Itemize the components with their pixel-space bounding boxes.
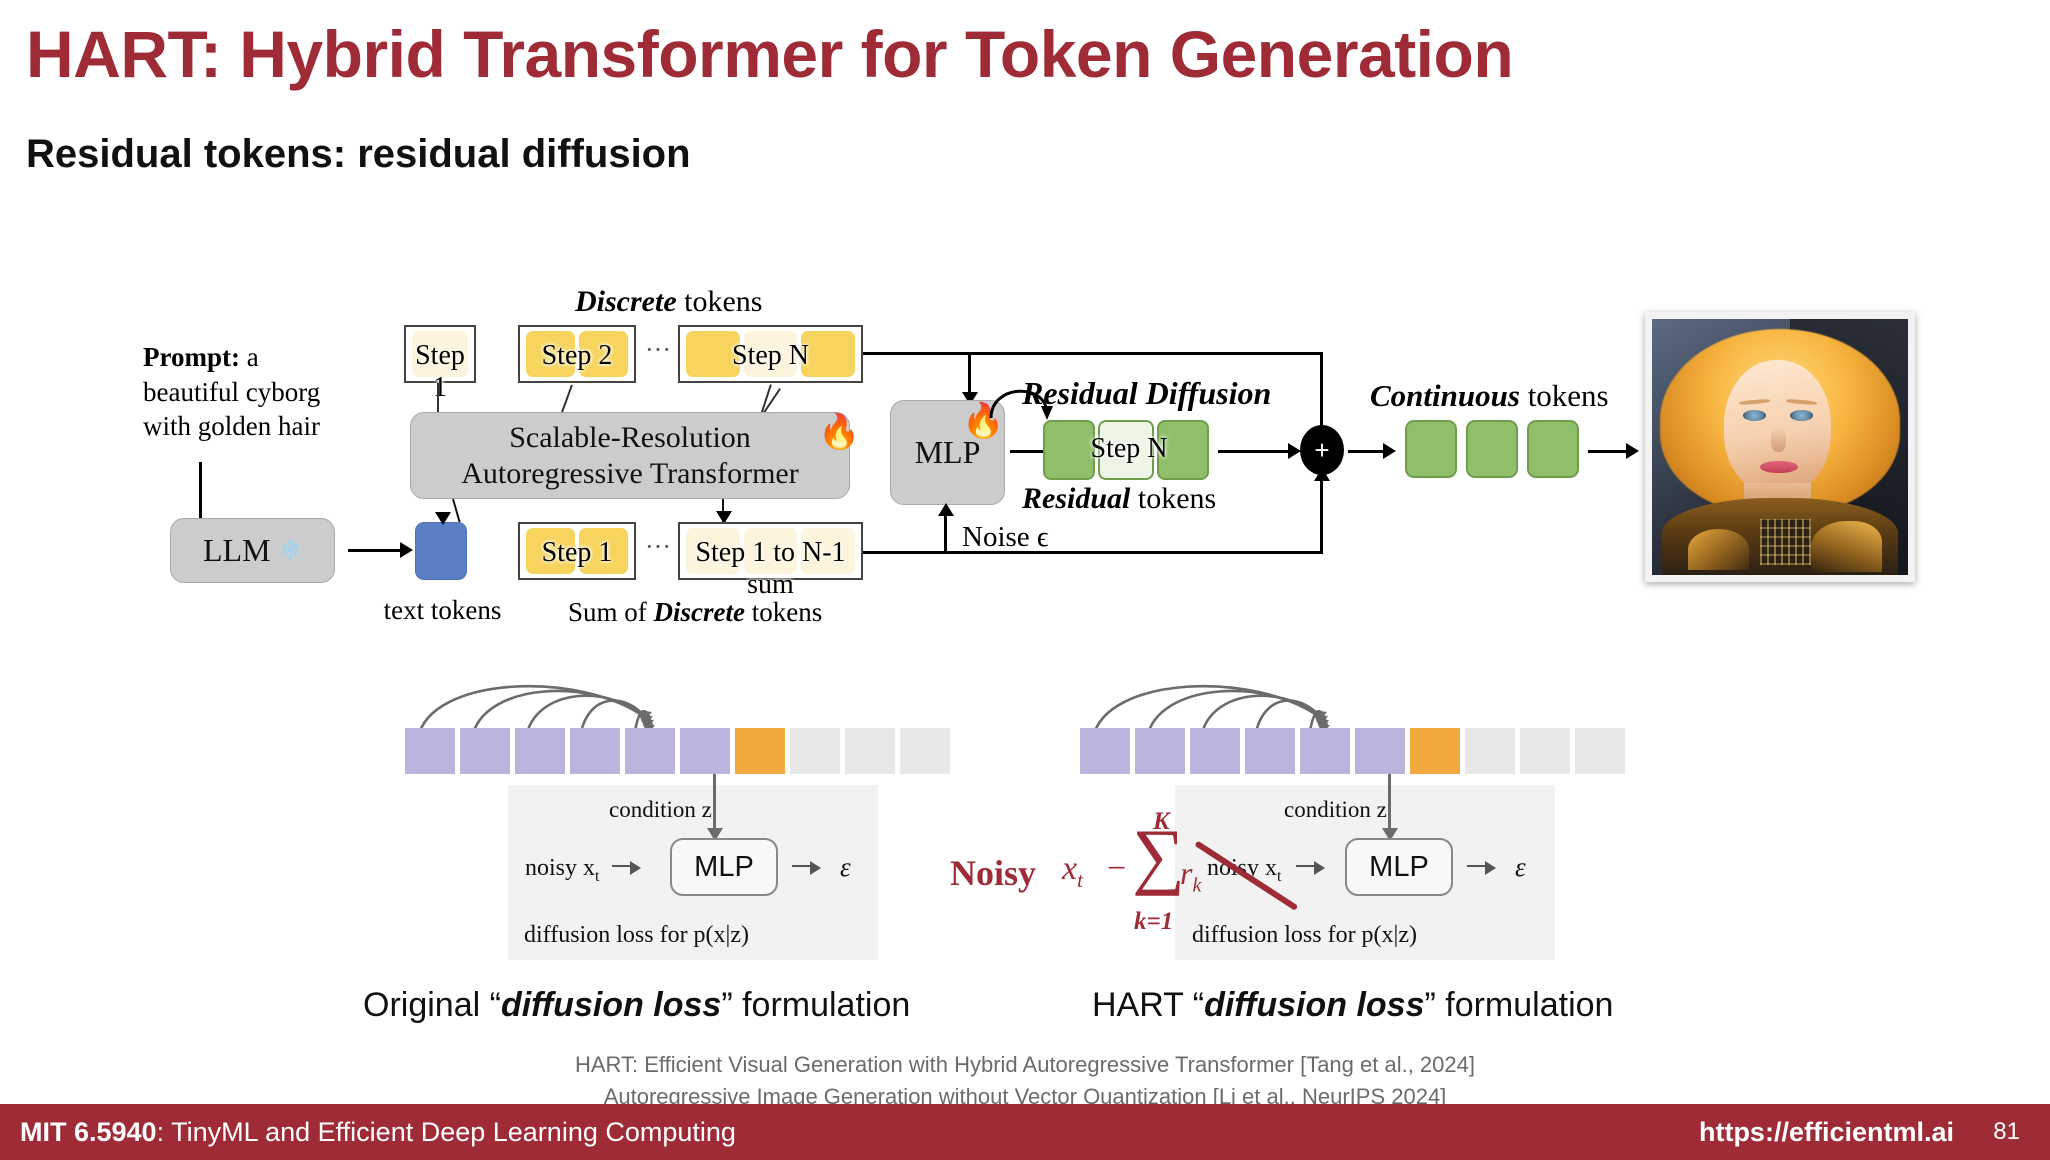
discrete-strong: Discrete [575, 285, 677, 318]
plus-to-continuous-arrowhead [1383, 443, 1396, 459]
annotation-sum-symbol: ∑ [1132, 828, 1185, 886]
output-line-hart [1467, 865, 1487, 867]
token-cell [680, 728, 730, 774]
residual-step-label: Step N [1043, 433, 1215, 465]
annotation-sum-lower: k=1 [1134, 908, 1173, 936]
token-cell [579, 331, 628, 377]
mlp-box-original[interactable]: MLP [670, 838, 778, 896]
footer-bar: MIT 6.5940: TinyML and Efficient Deep Le… [0, 1104, 2050, 1160]
input-arrowhead-hart [1314, 861, 1325, 875]
token-row-original [405, 728, 955, 774]
token-cell [744, 331, 798, 377]
token-cell [412, 331, 468, 377]
prompt-to-llm-line [199, 462, 202, 524]
loss-label-hart: diffusion loss for p(x|z) [1192, 922, 1417, 949]
mlp-box-hart[interactable]: MLP [1345, 838, 1453, 896]
image-lips [1760, 461, 1798, 473]
discrete-ellipsis-top: ··· [645, 335, 671, 365]
flame-icon-mlp: 🔥 [962, 404, 1004, 438]
continuous-token [1466, 420, 1518, 478]
llm-label: LLM [203, 532, 271, 569]
reference-line-1: HART: Efficient Visual Generation with H… [0, 1052, 2050, 1078]
token-cell [1300, 728, 1350, 774]
step1-to-transformer-line [437, 383, 439, 413]
continuous-to-image-arrowhead [1626, 443, 1639, 459]
discrete-step-n-box: Step N [678, 325, 863, 383]
noisy-x-sub: t [595, 868, 599, 885]
noise-label: Noise ϵ [962, 521, 1049, 554]
transformer-line-1: Scalable-Resolution [509, 420, 751, 455]
continuous-token [1527, 420, 1579, 478]
image-nose [1771, 427, 1786, 453]
llm-box[interactable]: LLM ❄ [170, 518, 335, 583]
mlp-label-hart: MLP [1369, 851, 1429, 884]
token-cell [1355, 728, 1405, 774]
sumbox-right-wire [863, 551, 1323, 554]
caption-hart: HART “diffusion loss” formulation [1092, 986, 1613, 1025]
input-line-original [612, 865, 632, 867]
noisy-x-text: noisy x [525, 855, 595, 881]
annotation-term: rk [1180, 855, 1201, 897]
token-cell [1080, 728, 1130, 774]
transformer-to-texttoken-arrowhead [435, 512, 451, 525]
text-tokens-label: text tokens [375, 595, 510, 626]
output-label-original: ε [840, 852, 851, 883]
caption-suffix-original: ” formulation [721, 986, 910, 1024]
sum-strong: Discrete [654, 597, 745, 627]
token-cell [1135, 728, 1185, 774]
discrete-rest: tokens [677, 285, 763, 318]
text-token [415, 522, 467, 580]
condition-label-original: condition z [609, 797, 712, 823]
stepn-right-wire [863, 352, 1323, 355]
caption-original: Original “diffusion loss” formulation [363, 986, 910, 1025]
annotation-r-sub: k [1192, 874, 1201, 896]
page-subtitle: Residual tokens: residual diffusion [26, 132, 691, 177]
stepn-down-to-mlp [968, 352, 971, 396]
prompt-label: Prompt: [143, 342, 240, 372]
annotation-r: r [1180, 855, 1192, 891]
transformer-to-step2-line [560, 385, 573, 416]
discrete-ellipsis-bottom: ··· [645, 532, 671, 562]
discrete-step-1-box: Step 1 [404, 325, 476, 383]
caption-prefix-hart: HART “ [1092, 986, 1204, 1024]
continuous-tokens-label: Continuous tokens [1370, 378, 1609, 414]
discrete-tokens-label: Discrete tokens [575, 285, 762, 319]
output-line-original [792, 865, 812, 867]
continuous-rest: tokens [1520, 378, 1609, 413]
continuous-token [1405, 420, 1457, 478]
token-cell [801, 331, 855, 377]
continuous-strong: Continuous [1370, 378, 1520, 413]
caption-strong-hart: diffusion loss [1204, 986, 1424, 1024]
output-arrowhead-original [810, 861, 821, 875]
residual-diffusion-label: Residual Diffusion [1022, 375, 1271, 412]
prompt-text: Prompt: a beautiful cyborg with golden h… [143, 340, 358, 444]
condition-line-original [713, 774, 716, 835]
mlp-label-original: MLP [694, 851, 754, 884]
sum-discrete-tokens-label: Sum of Discrete tokens [568, 597, 822, 628]
footer-course-title: : TinyML and Efficient Deep Learning Com… [157, 1117, 736, 1147]
page-title: HART: Hybrid Transformer for Token Gener… [26, 16, 1513, 92]
caption-prefix-original: Original “ [363, 986, 501, 1024]
token-cell-empty [790, 728, 840, 774]
footer-course-code: MIT 6.5940 [20, 1117, 157, 1147]
token-row-hart [1080, 728, 1630, 774]
token-cell-empty [900, 728, 950, 774]
token-cell [686, 331, 740, 377]
flame-icon-transformer: 🔥 [818, 415, 860, 449]
llm-to-text-arrowhead [400, 542, 413, 558]
input-label-original: noisy xt [525, 855, 599, 886]
sum-prefix: Sum of [568, 597, 654, 627]
input-line-hart [1296, 865, 1316, 867]
annotation-x: x [1062, 850, 1077, 887]
token-cell-empty [1575, 728, 1625, 774]
output-arrowhead-hart [1485, 861, 1496, 875]
slide-root: HART: Hybrid Transformer for Token Gener… [0, 0, 2050, 1160]
token-cell [625, 728, 675, 774]
token-cell-current [1410, 728, 1460, 774]
residual-to-plus-line [1218, 450, 1292, 453]
snowflake-icon: ❄ [279, 534, 302, 568]
image-eye-right [1790, 410, 1813, 421]
image-eye-left [1743, 410, 1766, 421]
transformer-line-2: Autoregressive Transformer [461, 456, 798, 491]
condition-line-hart [1388, 774, 1391, 835]
sum-to-plus-vertical [1320, 480, 1323, 552]
residual-strong: Residual [1022, 482, 1130, 515]
image-armor-left [1688, 529, 1749, 570]
generated-image [1645, 312, 1915, 582]
loss-label-original: diffusion loss for p(x|z) [524, 922, 749, 949]
annotation-x-term: xt [1062, 850, 1083, 893]
annotation-x-sub: t [1077, 868, 1083, 892]
noise-line [944, 512, 947, 554]
token-cell-empty [1465, 728, 1515, 774]
discrete-step-2-box: Step 2 [518, 325, 636, 383]
sum-suffix: tokens [745, 597, 822, 627]
residual-tokens-label: Residual tokens [1022, 482, 1216, 516]
token-cell [405, 728, 455, 774]
residual-token-group: Step N [1043, 420, 1215, 480]
caption-suffix-hart: ” formulation [1424, 986, 1613, 1024]
add-node: + [1300, 425, 1344, 475]
token-cell [515, 728, 565, 774]
token-cell [1245, 728, 1295, 774]
footer-url[interactable]: https://efficientml.ai [1699, 1117, 1954, 1148]
noise-arrowhead [938, 503, 954, 516]
plus-to-continuous-line [1348, 450, 1386, 453]
token-cell [801, 528, 855, 574]
sum-step-1-box: Step 1 [518, 522, 636, 580]
token-cell [686, 528, 740, 574]
footer-course: MIT 6.5940: TinyML and Efficient Deep Le… [20, 1117, 736, 1148]
continuous-to-image-line [1588, 450, 1630, 453]
caption-strong-original: diffusion loss [501, 986, 721, 1024]
token-cell [1190, 728, 1240, 774]
output-label-hart: ε [1515, 852, 1526, 883]
transformer-box[interactable]: Scalable-Resolution Autoregressive Trans… [410, 412, 850, 499]
input-arrowhead-original [630, 861, 641, 875]
token-cell [460, 728, 510, 774]
annotation-minus: − [1107, 850, 1126, 888]
image-circuitry [1760, 519, 1811, 565]
plus-symbol: + [1314, 435, 1329, 466]
token-cell-empty [845, 728, 895, 774]
footer-page-number: 81 [1993, 1118, 2020, 1146]
token-cell-current [735, 728, 785, 774]
llm-to-text-line [348, 549, 403, 552]
sum-step-n-box: Step 1 to N-1 sum [678, 522, 863, 580]
condition-label-hart: condition z [1284, 797, 1387, 823]
token-cell-empty [1520, 728, 1570, 774]
transformer-to-texttoken-line [452, 499, 461, 523]
token-cell [579, 528, 628, 574]
token-cell [744, 528, 798, 574]
noisy-x-sub-hart: t [1277, 868, 1281, 885]
token-cell [526, 528, 575, 574]
token-cell [526, 331, 575, 377]
image-armor-right [1811, 521, 1883, 572]
residual-rest: tokens [1130, 482, 1216, 515]
annotation-noisy-word: Noisy [950, 852, 1036, 894]
token-cell [570, 728, 620, 774]
